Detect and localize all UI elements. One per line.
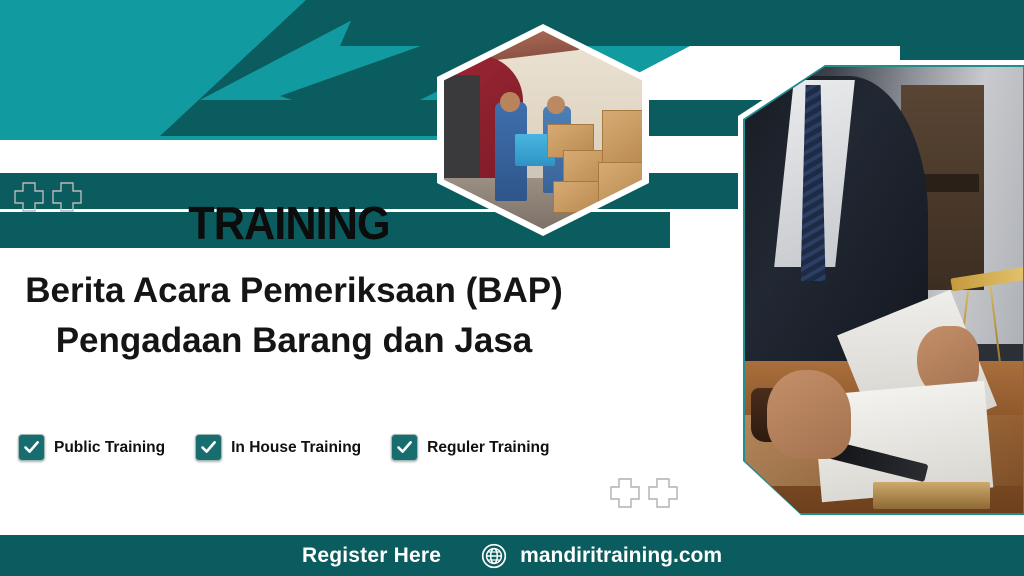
website-url[interactable]: mandiritraining.com bbox=[520, 544, 722, 568]
checkbox-in-house-training[interactable] bbox=[195, 434, 222, 461]
check-icon bbox=[23, 439, 40, 456]
website-group[interactable]: mandiritraining.com bbox=[481, 543, 722, 569]
option-public-training[interactable]: Public Training bbox=[18, 434, 165, 461]
option-in-house-training[interactable]: In House Training bbox=[195, 434, 361, 461]
x-mark-icon bbox=[646, 476, 680, 510]
x-decoration-bottom bbox=[608, 476, 680, 510]
checkbox-reguler-training[interactable] bbox=[391, 434, 418, 461]
globe-icon bbox=[481, 543, 507, 569]
eyebrow-heading: TRAINING bbox=[17, 196, 560, 250]
check-icon bbox=[396, 439, 413, 456]
x-mark-icon bbox=[608, 476, 642, 510]
option-reguler-training[interactable]: Reguler Training bbox=[391, 434, 549, 461]
training-poster: TRAINING Berita Acara Pemeriksaan (BAP) … bbox=[0, 0, 1024, 576]
check-icon bbox=[200, 439, 217, 456]
option-label: Public Training bbox=[54, 439, 165, 457]
main-photo-image bbox=[745, 67, 1023, 513]
footer-bar: Register Here mandiritraining.com bbox=[0, 535, 1024, 576]
option-label: In House Training bbox=[231, 439, 361, 457]
option-label: Reguler Training bbox=[427, 439, 549, 457]
main-photo-frame bbox=[738, 60, 1024, 520]
checkbox-public-training[interactable] bbox=[18, 434, 45, 461]
page-title: Berita Acara Pemeriksaan (BAP) Pengadaan… bbox=[14, 266, 574, 365]
register-here-label[interactable]: Register Here bbox=[302, 544, 441, 568]
training-options: Public Training In House Training Regule… bbox=[18, 434, 549, 461]
lawyer-desk-scene bbox=[745, 67, 1023, 513]
